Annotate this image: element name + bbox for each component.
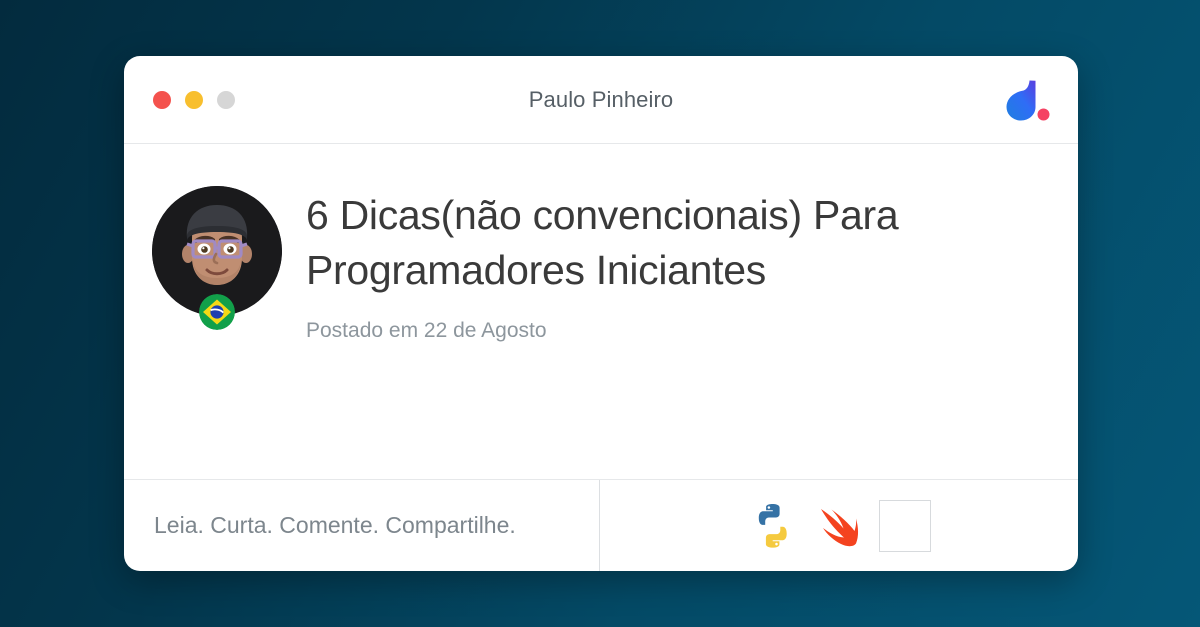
python-logo-icon[interactable] xyxy=(747,500,799,552)
brazil-flag-icon xyxy=(199,294,235,330)
footer-tagline-cell: Leia. Curta. Comente. Compartilhe. xyxy=(124,480,600,571)
card-footer: Leia. Curta. Comente. Compartilhe. xyxy=(124,479,1078,571)
window-title-bar: Paulo Pinheiro xyxy=(124,56,1078,144)
post-body: 6 Dicas(não convencionais) Para Programa… xyxy=(124,144,1078,479)
devto-droplet-logo-icon[interactable] xyxy=(998,77,1052,123)
browser-window-card: Paulo Pinheiro xyxy=(124,56,1078,571)
footer-tags-cell xyxy=(600,480,1078,571)
window-title: Paulo Pinheiro xyxy=(124,87,1078,113)
footer-tagline: Leia. Curta. Comente. Compartilhe. xyxy=(154,512,516,539)
avatar[interactable] xyxy=(152,186,282,316)
post-text-block: 6 Dicas(não convencionais) Para Programa… xyxy=(306,186,1038,479)
swift-logo-icon[interactable] xyxy=(813,500,865,552)
missing-image-placeholder-icon[interactable] xyxy=(879,500,931,552)
post-date: Postado em 22 de Agosto xyxy=(306,319,1038,343)
page-title: 6 Dicas(não convencionais) Para Programa… xyxy=(306,188,946,297)
